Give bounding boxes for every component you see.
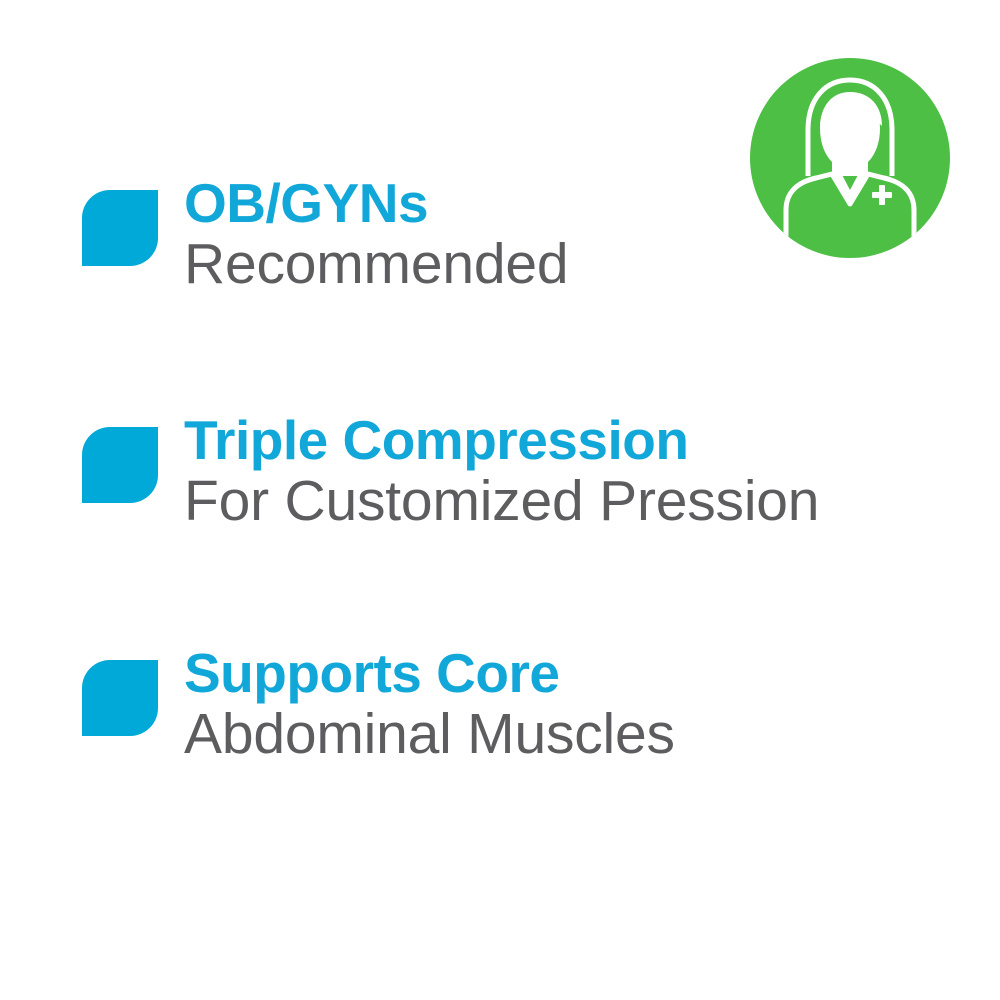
feature-text-group: OB/GYNs Recommended <box>184 175 984 295</box>
feature-highlights-graphic: OB/GYNs Recommended Triple Compression F… <box>0 0 1000 1000</box>
feature-subtitle: Recommended <box>184 234 984 294</box>
rounded-square-bullet-icon <box>82 427 158 503</box>
feature-title: Supports Core <box>184 645 984 702</box>
feature-text-group: Supports Core Abdominal Muscles <box>184 645 984 765</box>
feature-text-group: Triple Compression For Customized Pressi… <box>184 412 984 532</box>
feature-title: Triple Compression <box>184 412 984 469</box>
rounded-square-bullet-icon <box>82 660 158 736</box>
feature-title: OB/GYNs <box>184 175 984 232</box>
feature-subtitle: For Customized Pression <box>184 471 984 531</box>
rounded-square-bullet-icon <box>82 190 158 266</box>
feature-subtitle: Abdominal Muscles <box>184 704 984 764</box>
